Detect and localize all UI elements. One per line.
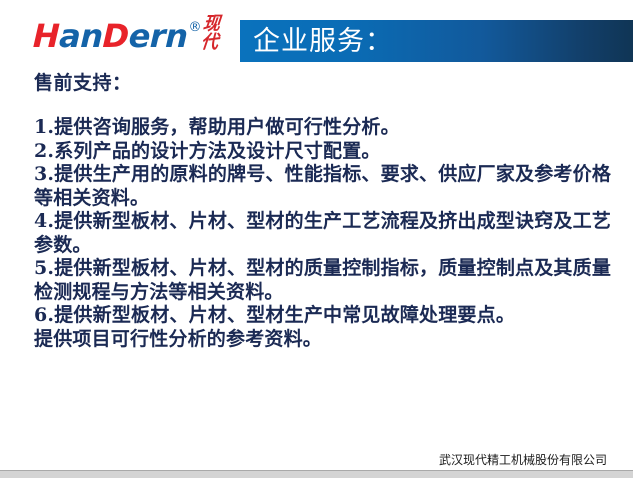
slide-footer: 武汉现代精工机械股份有限公司 bbox=[0, 452, 633, 470]
company-name: 武汉现代精工机械股份有限公司 bbox=[439, 452, 607, 468]
page-title: 企业服务： bbox=[253, 23, 393, 60]
list-item: 5.提供新型板材、片材、型材的质量控制指标，质量控制点及其质量检测规程与方法等相… bbox=[34, 257, 614, 304]
list-item: 6.提供新型板材、片材、型材生产中常见故障处理要点。 bbox=[34, 304, 614, 328]
logo-letter-e: e bbox=[128, 17, 151, 55]
bottom-strip bbox=[0, 470, 633, 478]
slide-body: 售前支持： 1.提供咨询服务，帮助用户做可行性分析。 2.系列产品的设计方法及设… bbox=[34, 72, 614, 351]
section-intro: 售前支持： bbox=[34, 72, 614, 95]
slide-header: HanDern ® 现 代 企业服务： bbox=[0, 0, 633, 70]
handern-logo: HanDern ® 现 代 bbox=[33, 19, 219, 61]
list-item: 2.系列产品的设计方法及设计尺寸配置。 bbox=[34, 140, 614, 164]
logo-chinese-bottom: 代 bbox=[201, 34, 220, 52]
list-item: 提供项目可行性分析的参考资料。 bbox=[34, 328, 614, 352]
list-item: 3.提供生产用的原料的牌号、性能指标、要求、供应厂家及参考价格等相关资料。 bbox=[34, 163, 614, 210]
title-banner: 企业服务： bbox=[240, 20, 633, 62]
list-item: 4.提供新型板材、片材、型材的生产工艺流程及挤出成型诀窍及工艺参数。 bbox=[34, 210, 614, 257]
list-item: 1.提供咨询服务，帮助用户做可行性分析。 bbox=[34, 116, 614, 140]
logo-letter-h: H bbox=[32, 17, 60, 55]
logo-letter-n2: n bbox=[165, 17, 189, 55]
logo-letter-a: a bbox=[59, 17, 81, 55]
logo-wordmark: HanDern bbox=[32, 19, 188, 53]
logo-letter-d: D bbox=[102, 17, 129, 55]
logo-chinese-mark: 现 代 bbox=[201, 16, 222, 53]
registered-trademark-icon: ® bbox=[188, 21, 201, 34]
logo-letter-r: r bbox=[149, 17, 166, 55]
logo-letter-n1: n bbox=[80, 17, 104, 55]
